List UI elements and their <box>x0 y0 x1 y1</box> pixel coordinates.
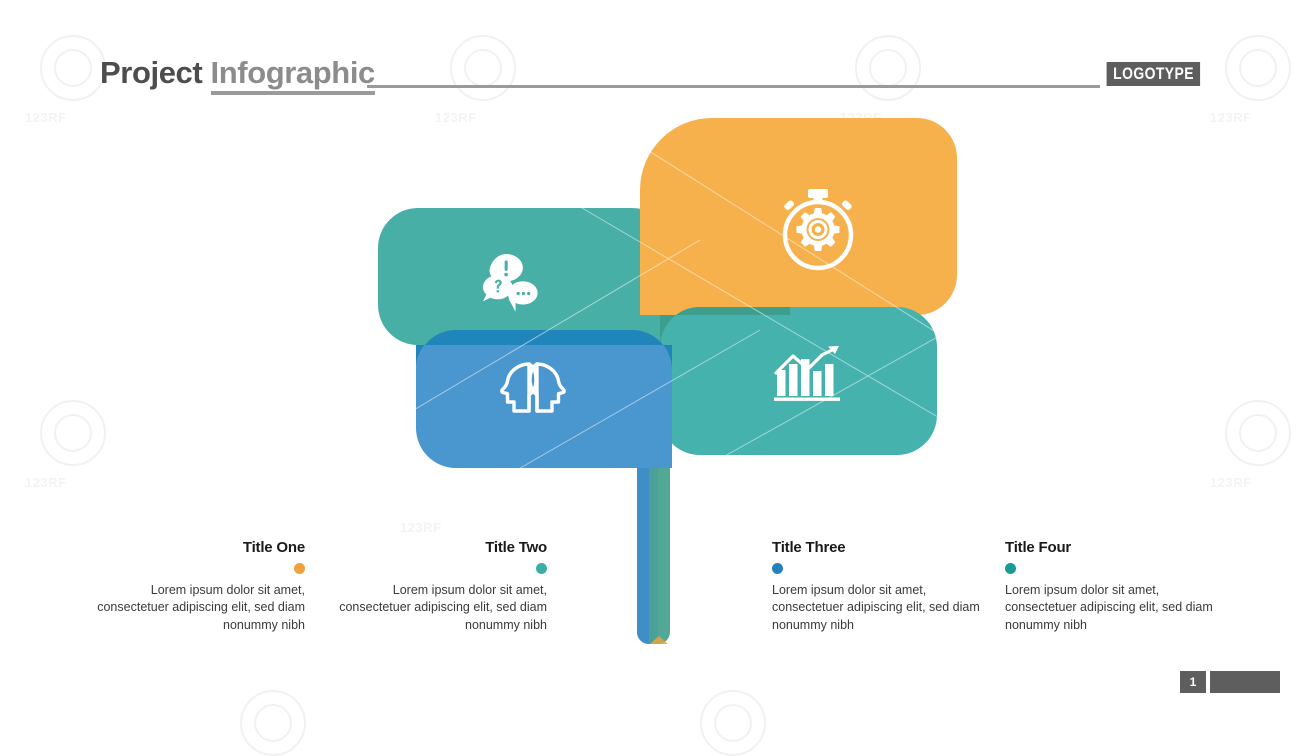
legend-body: Lorem ipsum dolor sit amet, consectetuer… <box>772 582 992 635</box>
legend-body: Lorem ipsum dolor sit amet, consectetuer… <box>327 582 547 635</box>
page-indicator[interactable]: 1 <box>1180 671 1280 693</box>
legend-dot-icon <box>536 563 547 574</box>
legend-body: Lorem ipsum dolor sit amet, consectetuer… <box>85 582 305 635</box>
legend-title: Title One <box>85 540 305 557</box>
page-number[interactable]: 1 <box>1180 671 1206 693</box>
legend-title: Title Two <box>327 540 547 557</box>
petal-communication <box>378 208 672 345</box>
page-title: Project Infographic <box>100 55 375 91</box>
page-title-light: Infographic <box>211 55 375 95</box>
legend-title: Title Four <box>1005 540 1225 557</box>
page-title-strong: Project <box>100 55 202 90</box>
petal-stopwatch <box>640 118 957 315</box>
page-progress-bar[interactable] <box>1210 671 1280 693</box>
page-header: Project Infographic LOGOTYPE <box>0 0 1300 120</box>
legend-item-title-four[interactable]: Title Four Lorem ipsum dolor sit amet, c… <box>1005 540 1225 635</box>
legend-dot-icon <box>1005 563 1016 574</box>
logotype-badge: LOGOTYPE <box>1106 62 1200 86</box>
legend-dot-icon <box>772 563 783 574</box>
legend: Title One Lorem ipsum dolor sit amet, co… <box>0 540 1300 650</box>
legend-item-title-one[interactable]: Title One Lorem ipsum dolor sit amet, co… <box>85 540 305 635</box>
legend-item-title-three[interactable]: Title Three Lorem ipsum dolor sit amet, … <box>772 540 992 635</box>
legend-title: Title Three <box>772 540 992 557</box>
legend-item-title-two[interactable]: Title Two Lorem ipsum dolor sit amet, co… <box>327 540 547 635</box>
header-divider-rule <box>367 85 1100 88</box>
legend-dot-icon <box>294 563 305 574</box>
legend-body: Lorem ipsum dolor sit amet, consectetuer… <box>1005 582 1225 635</box>
petal-growth <box>660 307 937 455</box>
